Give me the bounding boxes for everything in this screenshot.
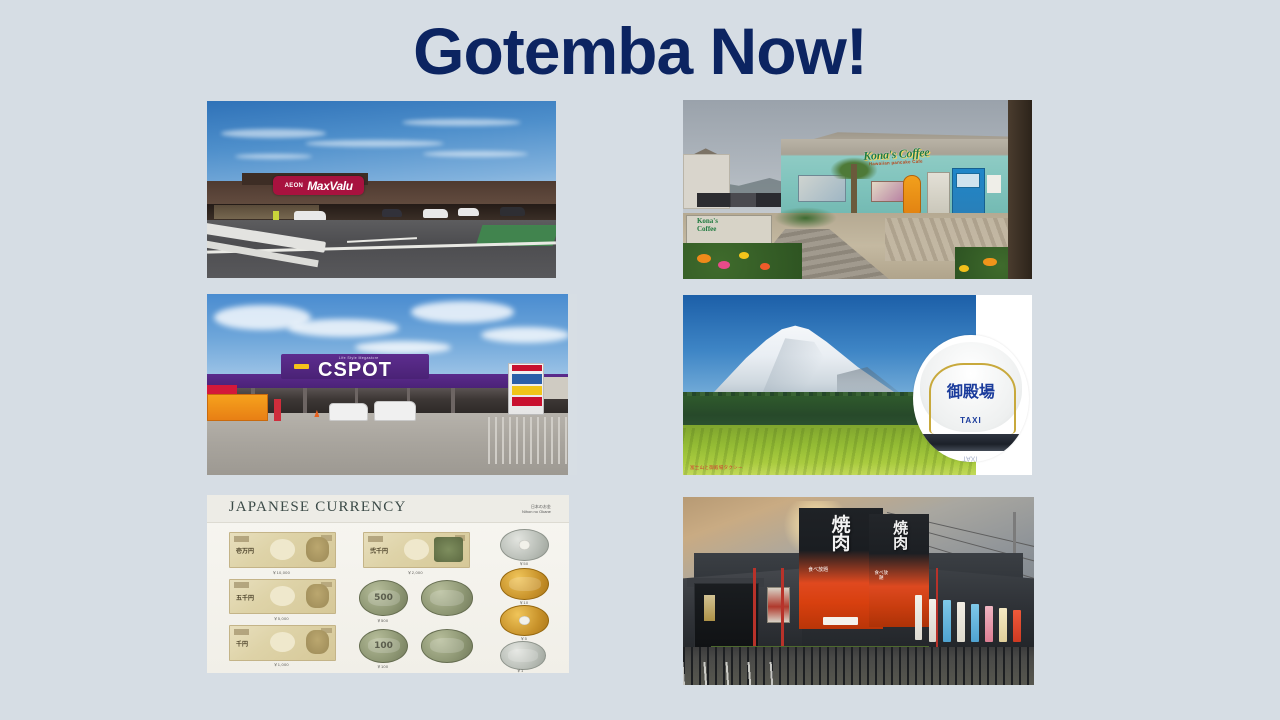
fuji-taxi-scene: 富士山と御殿場タクシー 御殿場 TAXI TAXI xyxy=(683,295,1032,475)
right-margin-strip xyxy=(568,294,577,475)
banknote-label: ￥10,000 xyxy=(229,570,334,576)
coin-1 xyxy=(500,641,545,670)
wall-poster xyxy=(767,587,790,623)
photo-credit: 富士山と御殿場タクシー xyxy=(690,465,743,471)
note-gate-illustration xyxy=(434,537,463,561)
banknote-label: ￥1,000 xyxy=(229,662,334,668)
taxi-sign-circle: 御殿場 TAXI TAXI xyxy=(913,335,1028,463)
banknote-2000: 弐千円 xyxy=(363,532,470,568)
banknote-5000: 五千円 xyxy=(229,579,336,615)
cloud xyxy=(402,119,521,126)
coin-5 xyxy=(500,605,549,635)
cloud xyxy=(481,327,570,343)
coin-label: ￥100 xyxy=(359,664,406,670)
cloud xyxy=(305,140,445,147)
door-window xyxy=(956,173,980,188)
tabehoudai-text-side: 食べ放題 xyxy=(873,572,891,581)
parked-car xyxy=(500,207,524,216)
restaurant-logo-plate xyxy=(823,617,858,625)
kanji-niku: 肉 xyxy=(893,534,908,552)
coin-hole xyxy=(519,616,530,625)
chart-title: JAPANESE CURRENCY xyxy=(229,499,407,516)
coin-value: 100 xyxy=(360,630,407,662)
currency-chart-scene: JAPANESE CURRENCY 日本のお金 Nihon no Okane 壱… xyxy=(207,495,569,673)
photo-maxvalu-supermarket[interactable]: AEON MaxValu xyxy=(207,101,556,278)
wall-mural xyxy=(798,175,845,202)
banknote-label: ￥2,000 xyxy=(363,570,468,576)
fence xyxy=(488,417,577,464)
maxvalu-logo-text: MaxValu xyxy=(307,179,352,193)
sign-panel-red xyxy=(512,397,542,406)
coin-100-reverse xyxy=(421,629,474,663)
garden-sign-line2: Coffee xyxy=(697,225,716,233)
konas-scene: Kona's Coffee Hawaiian pancake Cafe Kona… xyxy=(683,100,1032,279)
side-door xyxy=(927,172,950,219)
coin-face xyxy=(430,590,464,606)
banknote-1000: 千円 xyxy=(229,625,336,661)
banknote-label: ￥5,000 xyxy=(229,616,334,622)
parked-car xyxy=(382,209,403,217)
coin-value: 500 xyxy=(360,581,407,615)
sign-panel-yellow xyxy=(512,386,542,395)
note-kanji: 千円 xyxy=(236,639,248,648)
coin-500: 500 xyxy=(359,580,408,616)
slide-canvas: Gotemba Now! AEON MaxValu xyxy=(0,0,1280,720)
parked-car xyxy=(423,209,447,218)
palm-trunk xyxy=(851,164,858,218)
banner-flag xyxy=(1013,610,1021,642)
note-watermark xyxy=(270,632,295,652)
cloud xyxy=(423,151,528,157)
foreground-tree-trunk xyxy=(1008,100,1032,279)
kanji-niku: 肉 xyxy=(831,532,850,554)
aeon-logo-text: AEON xyxy=(285,183,304,189)
cloud xyxy=(355,341,451,354)
flower xyxy=(959,265,969,272)
note-numeral xyxy=(368,536,383,542)
note-kanji: 五千円 xyxy=(236,593,254,602)
entrance-lantern xyxy=(704,595,715,621)
note-portrait xyxy=(306,584,329,608)
banner-flag xyxy=(915,595,923,640)
coin-label: ￥1 xyxy=(497,668,544,673)
cloud xyxy=(411,301,515,323)
banner-flag xyxy=(971,604,979,642)
photo-mount-fuji-gotemba-taxi[interactable]: 富士山と御殿場タクシー 御殿場 TAXI TAXI xyxy=(683,295,1032,475)
taxi-sign-reflection: TAXI xyxy=(934,450,1005,462)
garden-signboard-text: Kona'sCoffee xyxy=(697,218,767,233)
cspot-sign-text: CSPOT xyxy=(288,359,421,382)
coin-label: ￥50 xyxy=(500,561,547,567)
coin-face xyxy=(509,577,541,592)
maxvalu-signboard: AEON MaxValu xyxy=(273,176,364,195)
menu-board xyxy=(987,175,1001,193)
tabehoudai-text-front: 食べ放題 xyxy=(808,568,829,573)
parking-space-markings xyxy=(683,662,774,685)
coin-100: 100 xyxy=(359,629,408,663)
banner-flag xyxy=(929,599,937,642)
promotional-sign xyxy=(207,394,268,421)
page-title: Gotemba Now! xyxy=(0,14,1280,90)
note-watermark xyxy=(270,586,295,606)
maxvalu-scene: AEON MaxValu xyxy=(207,101,556,278)
taxi-sign-latin: TAXI xyxy=(932,416,1010,425)
yakiniku-kanji-front: 焼肉 xyxy=(809,516,872,552)
chart-subtitle-romaji: Nihon no Okane xyxy=(522,509,551,515)
taxi-car-roof xyxy=(918,434,1024,451)
taxi-sign-kanji: 御殿場 xyxy=(932,378,1010,402)
sign-panel-blue xyxy=(512,374,542,385)
parked-car xyxy=(374,401,417,421)
banknote-10000: 壱万円 xyxy=(229,532,336,568)
banner-flag xyxy=(985,606,993,642)
note-portrait xyxy=(306,630,329,654)
parked-car xyxy=(329,403,368,421)
photo-cspot-store[interactable]: Life Style Megastore CSPOT xyxy=(207,294,577,475)
parked-car xyxy=(458,208,479,216)
banner-flag xyxy=(943,600,951,641)
yakiniku-kanji-side: 焼肉 xyxy=(876,521,925,550)
photo-konas-coffee-cafe[interactable]: Kona's Coffee Hawaiian pancake Cafe Kona… xyxy=(683,100,1032,279)
coin-face xyxy=(508,649,538,662)
photo-japanese-currency-chart[interactable]: JAPANESE CURRENCY 日本のお金 Nihon no Okane 壱… xyxy=(207,495,569,673)
photo-yakiniku-restaurant[interactable]: 焼肉 焼肉 食べ放題 食べ放題 xyxy=(683,497,1034,685)
note-numeral xyxy=(234,536,249,542)
red-post-box xyxy=(274,399,281,421)
note-numeral xyxy=(234,629,249,635)
note-kanji: 弐千円 xyxy=(370,546,388,555)
flower xyxy=(697,254,711,263)
note-numeral xyxy=(234,582,249,588)
banner-flag xyxy=(957,602,965,641)
coin-50 xyxy=(500,529,549,561)
coin-hole xyxy=(519,540,530,550)
yakiniku-scene: 焼肉 焼肉 食べ放題 食べ放題 xyxy=(683,497,1034,685)
facade-red-stripe xyxy=(781,568,783,647)
cspot-scene: Life Style Megastore CSPOT xyxy=(207,294,577,475)
sign-panel-red xyxy=(512,365,542,371)
garden-bush xyxy=(774,207,837,228)
facade-red-stripe xyxy=(753,568,755,647)
coin-label: ￥500 xyxy=(359,618,406,624)
note-portrait xyxy=(306,537,329,561)
note-watermark xyxy=(270,539,295,559)
note-watermark xyxy=(404,539,429,559)
chart-subtitle: 日本のお金 Nihon no Okane xyxy=(522,504,551,515)
parked-cars xyxy=(697,193,781,207)
note-kanji: 壱万円 xyxy=(236,546,254,555)
facade-red-stripe xyxy=(936,568,938,647)
coin-face xyxy=(430,638,464,653)
banner-flag xyxy=(999,608,1007,642)
